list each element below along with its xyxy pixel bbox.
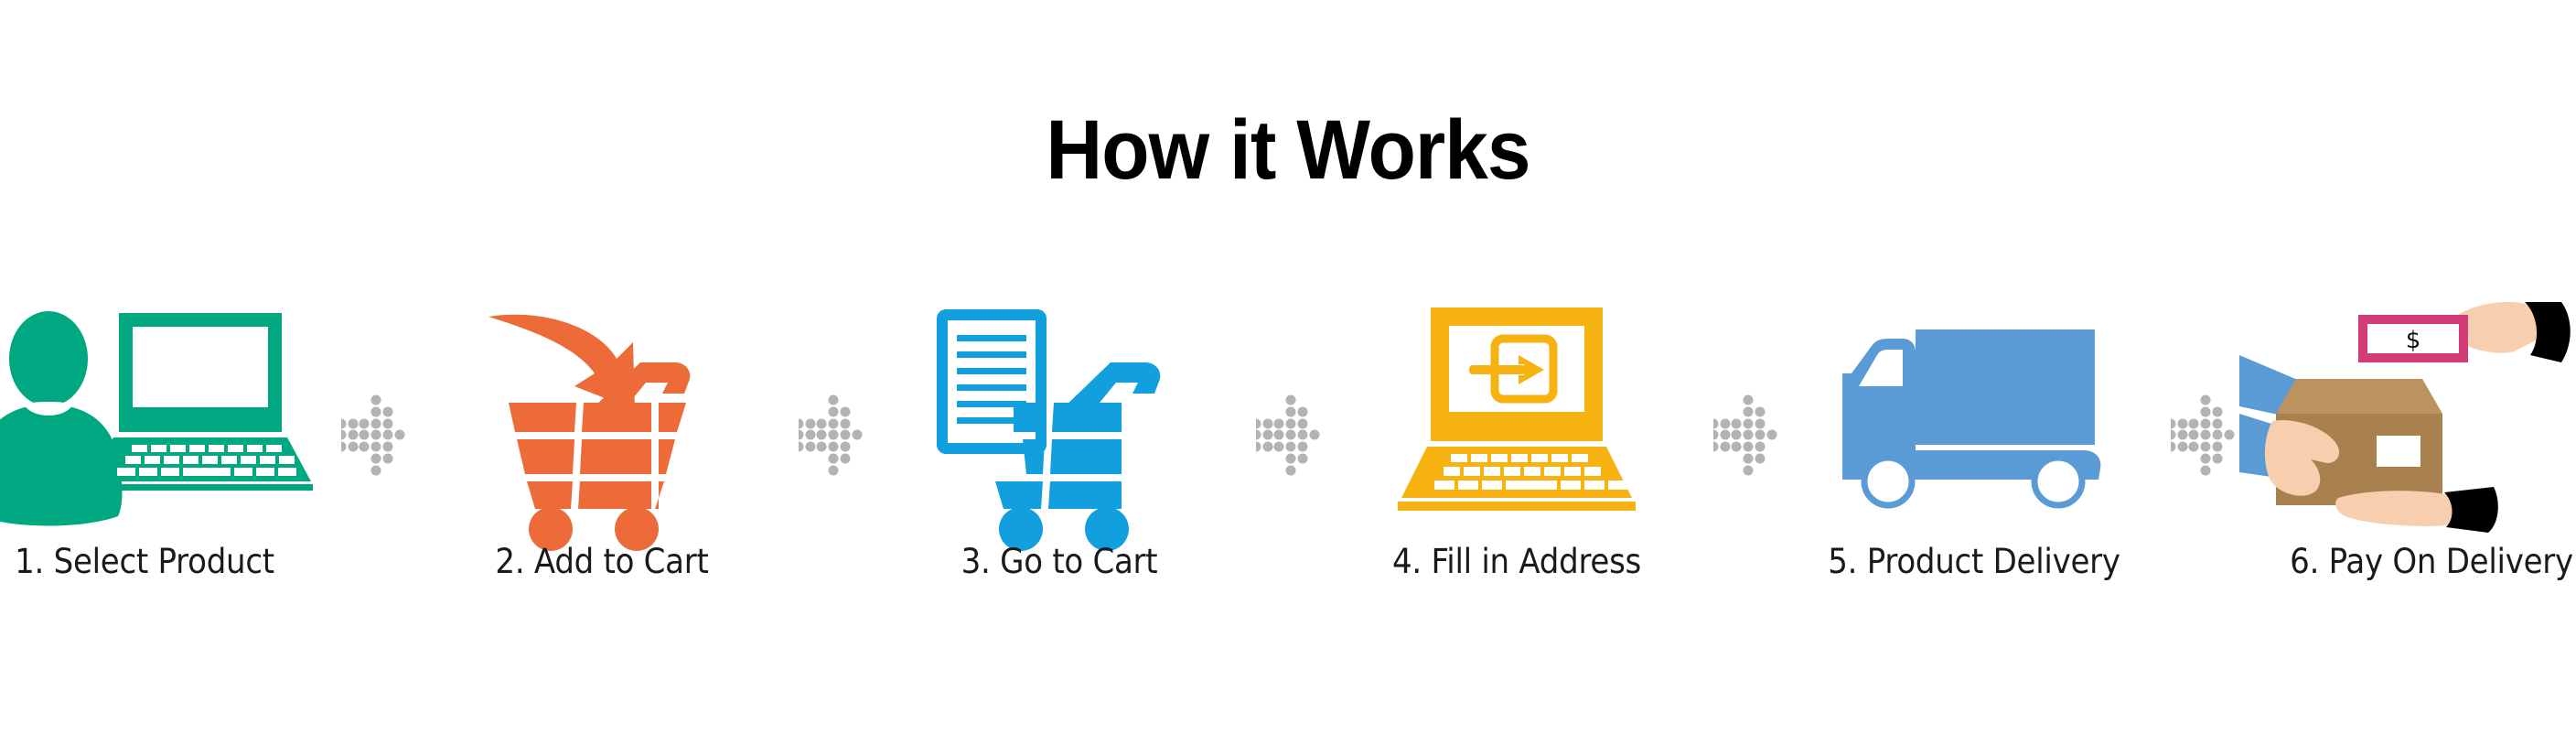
dotted-arrow-right-icon [341, 394, 407, 476]
step-6-pay-on-delivery[interactable]: $ [2239, 302, 2576, 668]
dotted-arrow-right-icon [2171, 394, 2237, 476]
shipping-label [2377, 436, 2420, 467]
dotted-arrow-right-icon [1713, 394, 1779, 476]
shopping-cart-with-arrow-icon [410, 302, 794, 531]
dotted-arrow-right-icon [799, 394, 864, 476]
steps-row: 1. Select Product [0, 302, 2576, 668]
arrow-separator-2 [794, 302, 867, 668]
step-1-select-product[interactable]: 1. Select Product [0, 302, 337, 668]
laptop-login-form-icon [1325, 302, 1709, 531]
arrow-separator-4 [1709, 302, 1782, 668]
step-label: 6. Pay On Delivery [2255, 542, 2576, 581]
arrow-separator-3 [1251, 302, 1325, 668]
step-label: 3. Go to Cart [883, 542, 1236, 581]
document-glyph [937, 309, 1046, 454]
arrow-separator-1 [337, 302, 410, 668]
banknote: $ [2358, 315, 2468, 362]
laptop-glyph [88, 313, 313, 508]
step-label: 1. Select Product [0, 542, 321, 581]
arrow-separator-5 [2166, 302, 2239, 668]
document-with-cart-icon [867, 302, 1251, 531]
step-label: 4. Fill in Address [1340, 542, 1693, 581]
dotted-arrow-right-icon [1256, 394, 1322, 476]
step-4-fill-in-address[interactable]: 4. Fill in Address [1325, 302, 1709, 668]
hands-exchange-box-and-money-icon: $ [2239, 302, 2576, 531]
step-3-go-to-cart[interactable]: 3. Go to Cart [867, 302, 1251, 668]
how-it-works-infographic: How it Works [0, 0, 2576, 745]
person-glyph [0, 311, 122, 526]
step-label: 2. Add to Cart [425, 542, 778, 581]
page-title: How it Works [91, 108, 2486, 192]
person-with-laptop-icon [0, 302, 337, 531]
delivery-truck-icon [1782, 302, 2166, 531]
dollar-symbol: $ [2406, 327, 2421, 354]
lower-hand-receiving [2335, 487, 2498, 533]
upper-hand-giving-money [2454, 302, 2571, 362]
step-5-product-delivery[interactable]: 5. Product Delivery [1782, 302, 2166, 668]
step-2-add-to-cart[interactable]: 2. Add to Cart [410, 302, 794, 668]
step-label: 5. Product Delivery [1798, 542, 2151, 581]
